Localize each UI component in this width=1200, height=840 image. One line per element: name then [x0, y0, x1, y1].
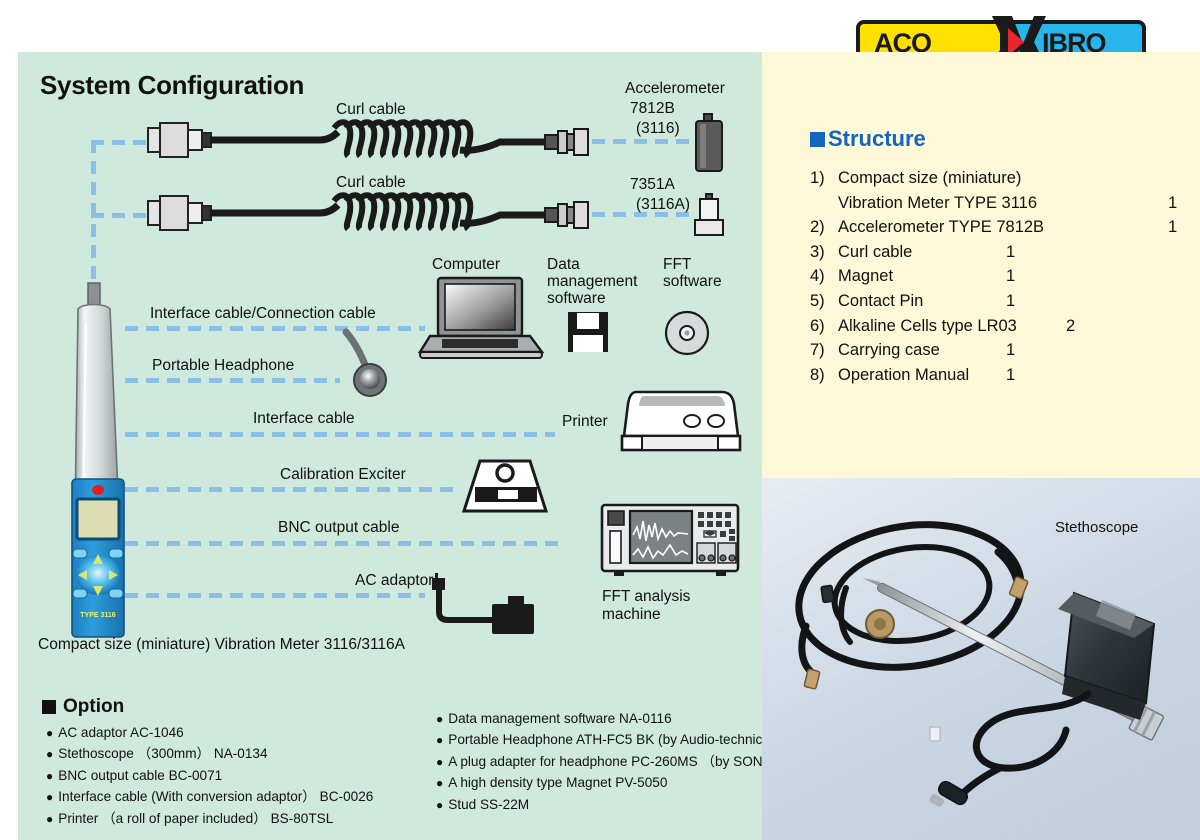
- computer-laptop-icon: [420, 278, 544, 360]
- bullet-icon: ●: [436, 753, 443, 772]
- option-item: ●BNC output cable BC-0071: [46, 765, 373, 786]
- option-item-label: Printer （a roll of paper included） BS-80…: [58, 808, 333, 829]
- option-item-label: Portable Headphone ATH-FC5 BK (by Audio-…: [448, 729, 774, 750]
- headphone-icon: [338, 328, 402, 400]
- structure-row-label: Magnet: [838, 266, 1006, 287]
- structure-row-qty: 1: [1168, 193, 1190, 214]
- bullet-icon: ●: [46, 810, 53, 829]
- cd-disc-icon: [664, 310, 712, 358]
- fft-software-label-line2: software: [663, 273, 722, 291]
- option-item: ●Data management software NA-0116: [436, 708, 785, 729]
- option-heading-label: Option: [63, 696, 124, 718]
- portable-headphone-label: Portable Headphone: [152, 357, 294, 375]
- connector-interface-cable: [125, 432, 555, 437]
- bullet-icon: ●: [46, 767, 53, 786]
- printer-label: Printer: [562, 413, 608, 431]
- structure-row-number: 2): [810, 217, 838, 238]
- bullet-icon: ●: [46, 745, 53, 764]
- connector-accel1-left: [91, 140, 151, 145]
- floppy-disk-icon: [568, 312, 610, 354]
- structure-row-label: Contact Pin: [838, 291, 1006, 312]
- structure-row-number: 7): [810, 340, 838, 361]
- structure-row-label: Curl cable: [838, 242, 1006, 263]
- option-item: ●Printer （a roll of paper included） BS-8…: [46, 808, 373, 829]
- fft-machine-label-line1: FFT analysis: [602, 588, 690, 606]
- calibration-exciter-icon: [458, 455, 554, 517]
- structure-row-label: Operation Manual: [838, 365, 1006, 386]
- accelerometer-paren-1-label: (3116): [636, 120, 680, 138]
- option-item: ●A high density type Magnet PV-5050: [436, 772, 785, 793]
- data-software-label-line2: management: [547, 273, 637, 291]
- structure-row: 1) Compact size (miniature): [810, 168, 1190, 189]
- structure-row-label: Accelerometer TYPE 7812B: [838, 217, 1168, 238]
- fft-analysis-machine-icon: [600, 503, 742, 581]
- vibration-meter-device: TYPE 3116: [60, 283, 172, 643]
- structure-row-qty: 2: [1066, 316, 1088, 337]
- structure-row-qty: 1: [1006, 242, 1028, 263]
- connector-jack-1-icon: [545, 128, 593, 156]
- bullet-icon: ●: [436, 774, 443, 793]
- structure-row: 7) Carrying case 1: [810, 340, 1190, 361]
- printer-icon: [620, 388, 742, 456]
- structure-row-number: 1): [810, 168, 838, 189]
- option-heading: Option: [42, 696, 124, 718]
- option-item: ●Stud SS-22M: [436, 794, 785, 815]
- option-item: ●Interface cable (With conversion adapto…: [46, 786, 373, 807]
- structure-row-number: 5): [810, 291, 838, 312]
- structure-list: 1) Compact size (miniature) Vibration Me…: [810, 168, 1190, 389]
- structure-row: 8) Operation Manual 1: [810, 365, 1190, 386]
- accelerometer-paren-2-label: (3116A): [636, 196, 690, 214]
- option-item-label: BNC output cable BC-0071: [58, 765, 222, 786]
- stethoscope-photo-label: Stethoscope: [1055, 519, 1138, 536]
- connector-portable-headphone: [125, 378, 340, 383]
- accelerometer-7351a-icon: [694, 194, 730, 238]
- interface-cable-label: Interface cable: [253, 410, 355, 428]
- structure-row: 6) Alkaline Cells type LR03 2: [810, 316, 1190, 337]
- bullet-icon: ●: [436, 710, 443, 729]
- structure-row-number: 4): [810, 266, 838, 287]
- option-item: ●AC adaptor AC-1046: [46, 722, 373, 743]
- connector-bnc-output: [125, 541, 560, 546]
- accelerometer-model-2-label: 7351A: [630, 176, 675, 194]
- curl-cable-1-label: Curl cable: [336, 101, 406, 119]
- interface-connection-cable-label: Interface cable/Connection cable: [150, 305, 376, 323]
- option-list-right: ●Data management software NA-0116 ●Porta…: [436, 708, 785, 815]
- structure-heading: Structure: [810, 126, 926, 152]
- structure-bullet-square-icon: [810, 132, 825, 147]
- structure-row-number: 8): [810, 365, 838, 386]
- option-item-label: AC adaptor AC-1046: [58, 722, 183, 743]
- structure-row-qty: 1: [1006, 340, 1028, 361]
- system-configuration-title: System Configuration: [40, 70, 304, 101]
- connector-accel1-right: [592, 139, 690, 144]
- structure-row-number: 3): [810, 242, 838, 263]
- bullet-icon: ●: [46, 788, 53, 807]
- accelerometer-7812b-icon: [692, 114, 732, 176]
- fft-machine-label-line2: machine: [602, 606, 661, 624]
- structure-row-cont: Vibration Meter TYPE 3116 1: [810, 193, 1190, 214]
- option-item: ●A plug adapter for headphone PC-260MS （…: [436, 751, 785, 772]
- bullet-icon: ●: [436, 796, 443, 815]
- option-item-label: Data management software NA-0116: [448, 708, 671, 729]
- connector-calibration-exciter: [125, 487, 455, 492]
- ac-adaptor-icon: [426, 578, 541, 636]
- option-item-label: A plug adapter for headphone PC-260MS （b…: [448, 751, 785, 772]
- structure-row-qty: 1: [1006, 365, 1028, 386]
- option-item-label: Stud SS-22M: [448, 794, 529, 815]
- accelerometer-title-label: Accelerometer: [625, 80, 725, 98]
- structure-row-label2: Vibration Meter TYPE 3116: [838, 193, 1168, 214]
- fft-software-label-line1: FFT: [663, 256, 691, 274]
- option-item-label: Stethoscope （300mm） NA-0134: [58, 743, 267, 764]
- connector-ac-adaptor: [125, 593, 425, 598]
- structure-row: 5) Contact Pin 1: [810, 291, 1190, 312]
- option-item: ●Stethoscope （300mm） NA-0134: [46, 743, 373, 764]
- bnc-output-cable-label: BNC output cable: [278, 519, 400, 537]
- structure-row-label: Alkaline Cells type LR03: [838, 316, 1066, 337]
- bullet-icon: ●: [436, 731, 443, 750]
- computer-label: Computer: [432, 256, 500, 274]
- curl-cable-2-label: Curl cable: [336, 174, 406, 192]
- bullet-icon: ●: [46, 724, 53, 743]
- connector-jack-2-icon: [545, 201, 593, 229]
- option-list-left: ●AC adaptor AC-1046 ●Stethoscope （300mm）…: [46, 722, 373, 829]
- meter-caption: Compact size (miniature) Vibration Meter…: [38, 636, 405, 654]
- structure-row-qty: 1: [1006, 266, 1028, 287]
- structure-row-number: 6): [810, 316, 838, 337]
- ac-adaptor-label: AC adaptor: [355, 572, 433, 590]
- connector-accel2-left: [91, 213, 151, 218]
- structure-row-qty: 1: [1168, 217, 1190, 238]
- structure-row: 2) Accelerometer TYPE 7812B 1: [810, 217, 1190, 238]
- structure-row-qty: 1: [1006, 291, 1028, 312]
- structure-heading-label: Structure: [828, 126, 926, 152]
- svg-text:TYPE 3116: TYPE 3116: [80, 612, 116, 619]
- calibration-exciter-label: Calibration Exciter: [280, 466, 406, 484]
- option-bullet-square-icon: [42, 700, 56, 714]
- structure-row: 3) Curl cable 1: [810, 242, 1190, 263]
- option-item-label: Interface cable (With conversion adaptor…: [58, 786, 373, 807]
- structure-row-label: Compact size (miniature): [838, 168, 1190, 189]
- data-software-label-line3: software: [547, 290, 606, 308]
- data-software-label-line1: Data: [547, 256, 580, 274]
- option-item: ●Portable Headphone ATH-FC5 BK (by Audio…: [436, 729, 785, 750]
- option-item-label: A high density type Magnet PV-5050: [448, 772, 667, 793]
- structure-row: 4) Magnet 1: [810, 266, 1190, 287]
- structure-row-label: Carrying case: [838, 340, 1006, 361]
- accelerometer-model-1-label: 7812B: [630, 100, 675, 118]
